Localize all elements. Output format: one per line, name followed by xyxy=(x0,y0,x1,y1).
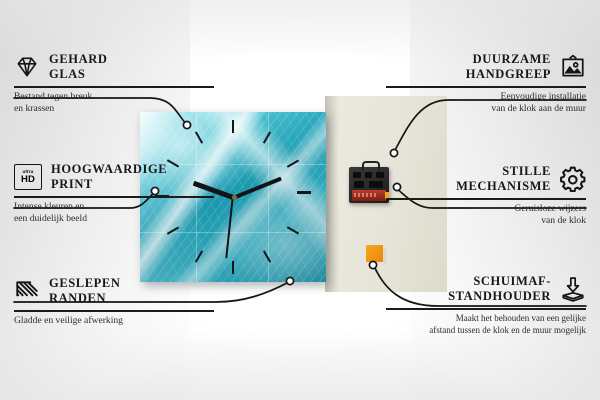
clock-tick-12 xyxy=(232,120,234,133)
feature-divider xyxy=(386,198,586,200)
feature-title-line2: HANDGREEP xyxy=(386,67,551,82)
mechanism-port-e xyxy=(369,181,383,188)
feature-gehard-glas: GEHARD GLAS Bestand tegen breuk en krass… xyxy=(14,52,214,114)
feature-title-line1: SCHUIMAF- xyxy=(386,274,551,289)
diagonal-lines-icon xyxy=(14,278,40,304)
clock-battery xyxy=(352,190,386,201)
feature-desc-line1: Maakt het behouden van een gelijke xyxy=(386,313,586,325)
press-down-icon xyxy=(560,276,586,302)
background-top-vignette xyxy=(0,0,600,60)
feature-divider xyxy=(14,86,214,88)
infographic-canvas: GEHARD GLAS Bestand tegen breuk en krass… xyxy=(0,0,600,400)
feature-desc-line1: Geruisloze wijzers xyxy=(386,203,586,215)
feature-geslepen-randen: GESLEPEN RANDEN Gladde en veilige afwerk… xyxy=(14,276,214,327)
feature-stille-mechanisme: STILLE MECHANISME Geruisloze wijzers van… xyxy=(386,164,586,226)
mechanism-port-d xyxy=(354,181,364,188)
picture-frame-icon xyxy=(560,54,586,80)
clock-tick-3 xyxy=(297,191,311,194)
feature-desc-line2: afstand tussen de klok en de muur mogeli… xyxy=(386,325,586,337)
feature-desc-line2: van de klok aan de muur xyxy=(386,103,586,115)
feature-desc-line2: een duidelijk beeld xyxy=(14,213,214,225)
clock-hand-cap xyxy=(232,195,237,200)
feature-title-line2: STANDHOUDER xyxy=(386,289,551,304)
feature-title-line1: DUURZAME xyxy=(386,52,551,67)
feature-schuimafstandhouder: SCHUIMAF- STANDHOUDER Maakt het behouden… xyxy=(386,274,586,336)
feature-title-line2: RANDEN xyxy=(49,291,121,306)
feature-title-line2: PRINT xyxy=(51,177,167,192)
feature-desc-line1: Intense kleuren en xyxy=(14,201,214,213)
feature-desc-line1: Eenvoudige installatie xyxy=(386,91,586,103)
feature-title-line2: MECHANISME xyxy=(386,179,551,194)
feature-title-line1: GESLEPEN xyxy=(49,276,121,291)
feature-title-line1: HOOGWAARDIGE xyxy=(51,162,167,177)
battery-label-stripes xyxy=(354,193,378,197)
feature-desc-line2: en krassen xyxy=(14,103,214,115)
feature-title-line1: STILLE xyxy=(386,164,551,179)
clock-tick-6 xyxy=(232,261,234,274)
background-bottom-vignette xyxy=(0,330,600,400)
gear-icon xyxy=(560,166,586,192)
feature-divider xyxy=(14,196,214,198)
feature-desc-line1: Gladde en veilige afwerking xyxy=(14,315,214,327)
feature-hoogwaardige-print: ultra HD HOOGWAARDIGE PRINT Intense kleu… xyxy=(14,162,214,224)
feature-divider xyxy=(386,86,586,88)
foam-spacer xyxy=(366,245,383,262)
ultra-hd-icon-main-text: HD xyxy=(21,175,35,185)
feature-title-line1: GEHARD xyxy=(49,52,107,67)
feature-duurzame-handgreep: DUURZAME HANDGREEP Eenvoudige installati… xyxy=(386,52,586,114)
ultra-hd-icon: ultra HD xyxy=(14,164,42,190)
mechanism-hanger-hook xyxy=(362,161,380,171)
feature-title-line2: GLAS xyxy=(49,67,107,82)
mechanism-port-b xyxy=(365,172,372,178)
feature-divider xyxy=(386,308,586,310)
mechanism-port-a xyxy=(353,172,361,178)
feature-desc-line2: van de klok xyxy=(386,215,586,227)
feature-desc-line1: Bestand tegen breuk xyxy=(14,91,214,103)
foam-spacer-side xyxy=(383,248,387,264)
wall-panel-shadow xyxy=(325,96,339,292)
feature-divider xyxy=(14,310,214,312)
mechanism-port-c xyxy=(376,172,384,178)
diamond-icon xyxy=(14,54,40,80)
